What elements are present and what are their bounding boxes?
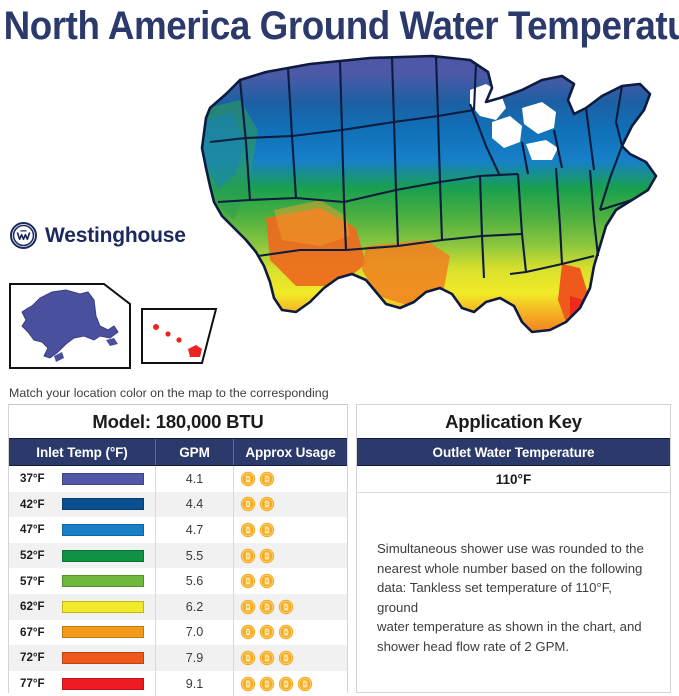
inlet-temp-label: 77°F <box>20 677 54 690</box>
cell-approx-usage <box>234 620 347 646</box>
cell-approx-usage <box>234 466 347 492</box>
shower-token-icon <box>259 548 275 564</box>
cell-inlet-temp: 72°F <box>9 645 156 671</box>
application-key-note: Simultaneous shower use was rounded to t… <box>357 493 670 657</box>
cell-inlet-temp: 62°F <box>9 594 156 620</box>
alaska-inset <box>8 278 132 370</box>
page-title: North America Ground Water Temperature M… <box>0 4 679 48</box>
cell-gpm: 4.7 <box>156 517 234 543</box>
table-row: 77°F9.1 <box>9 671 347 696</box>
inlet-temp-label: 67°F <box>20 626 54 639</box>
table-row: 42°F4.4 <box>9 492 347 518</box>
note-line-5: shower head flow rate of 2 GPM. <box>377 637 649 657</box>
shower-token-icon <box>259 624 275 640</box>
shower-token-icon <box>240 650 256 666</box>
temperature-color-swatch <box>62 473 144 485</box>
table-row: 52°F5.5 <box>9 543 347 569</box>
cell-inlet-temp: 57°F <box>9 568 156 594</box>
shower-token-icon <box>240 624 256 640</box>
shower-token-icon <box>259 573 275 589</box>
column-header-outlet-water-temperature: Outlet Water Temperature <box>357 439 670 465</box>
shower-token-icon <box>259 471 275 487</box>
cell-inlet-temp: 37°F <box>9 466 156 492</box>
panels-region: Model: 180,000 BTU Inlet Temp (°F) GPM A… <box>0 400 679 693</box>
note-line-4: water temperature as shown in the chart,… <box>377 617 649 637</box>
table-row: 37°F4.1 <box>9 466 347 492</box>
cell-inlet-temp: 52°F <box>9 543 156 569</box>
shower-token-icon <box>278 676 294 692</box>
temperature-color-swatch <box>62 550 144 562</box>
cell-inlet-temp: 47°F <box>9 517 156 543</box>
map-region: Westinghouse Match your location color o… <box>0 50 679 395</box>
inlet-temp-label: 72°F <box>20 651 54 664</box>
brand-name: Westinghouse <box>45 224 186 248</box>
shower-token-icon <box>240 522 256 538</box>
cell-inlet-temp: 67°F <box>9 620 156 646</box>
cell-approx-usage <box>234 671 347 696</box>
cell-gpm: 5.6 <box>156 568 234 594</box>
shower-token-icon <box>259 599 275 615</box>
model-capacity-panel: Model: 180,000 BTU Inlet Temp (°F) GPM A… <box>8 404 348 693</box>
note-line-1: Simultaneous shower use was rounded to t… <box>377 539 649 559</box>
temperature-color-swatch <box>62 601 144 613</box>
hawaii-inset <box>140 305 218 367</box>
inlet-temp-label: 57°F <box>20 575 54 588</box>
cell-approx-usage <box>234 645 347 671</box>
table-row: 72°F7.9 <box>9 645 347 671</box>
shower-token-icon <box>297 676 313 692</box>
cell-approx-usage <box>234 568 347 594</box>
table-row: 57°F5.6 <box>9 568 347 594</box>
temperature-color-swatch <box>62 498 144 510</box>
cell-approx-usage <box>234 517 347 543</box>
model-table-header: Inlet Temp (°F) GPM Approx Usage <box>9 438 347 466</box>
cell-gpm: 4.4 <box>156 492 234 518</box>
inlet-temp-label: 47°F <box>20 523 54 536</box>
table-row: 67°F7.0 <box>9 620 347 646</box>
temperature-color-swatch <box>62 652 144 664</box>
cell-inlet-temp: 42°F <box>9 492 156 518</box>
cell-gpm: 7.9 <box>156 645 234 671</box>
note-line-3: data: Tankless set temperature of 110°F,… <box>377 578 649 617</box>
outlet-water-temperature-value: 110°F <box>357 466 670 493</box>
shower-token-icon <box>278 624 294 640</box>
application-key-title: Application Key <box>357 405 670 438</box>
model-table-body: 37°F4.142°F4.447°F4.752°F5.557°F5.662°F6… <box>9 466 347 696</box>
shower-token-icon <box>240 599 256 615</box>
cell-gpm: 7.0 <box>156 620 234 646</box>
shower-token-icon <box>240 548 256 564</box>
column-header-approx-usage: Approx Usage <box>234 439 347 465</box>
shower-token-icon <box>240 676 256 692</box>
shower-token-icon <box>259 650 275 666</box>
model-panel-title: Model: 180,000 BTU <box>9 405 347 438</box>
column-header-gpm: GPM <box>156 439 234 465</box>
brand-logo: Westinghouse <box>10 222 186 249</box>
page-header: North America Ground Water Temperature M… <box>0 0 679 52</box>
inlet-temp-label: 37°F <box>20 472 54 485</box>
cell-approx-usage <box>234 594 347 620</box>
shower-token-icon <box>278 599 294 615</box>
table-row: 47°F4.7 <box>9 517 347 543</box>
shower-token-icon <box>240 573 256 589</box>
cell-approx-usage <box>234 543 347 569</box>
temperature-color-swatch <box>62 524 144 536</box>
cell-gpm: 4.1 <box>156 466 234 492</box>
shower-token-icon <box>278 650 294 666</box>
temperature-color-swatch <box>62 678 144 690</box>
shower-token-icon <box>259 496 275 512</box>
shower-token-icon <box>240 471 256 487</box>
cell-gpm: 6.2 <box>156 594 234 620</box>
shower-token-icon <box>240 496 256 512</box>
shower-token-icon <box>259 522 275 538</box>
temperature-color-swatch <box>62 626 144 638</box>
cell-gpm: 9.1 <box>156 671 234 696</box>
column-header-inlet-temp: Inlet Temp (°F) <box>9 439 156 465</box>
application-key-header: Outlet Water Temperature <box>357 438 670 466</box>
temperature-color-swatch <box>62 575 144 587</box>
cell-gpm: 5.5 <box>156 543 234 569</box>
table-row: 62°F6.2 <box>9 594 347 620</box>
us-ground-water-temperature-map <box>170 50 679 390</box>
cell-inlet-temp: 77°F <box>9 671 156 696</box>
inlet-temp-label: 62°F <box>20 600 54 613</box>
shower-token-icon <box>259 676 275 692</box>
cell-approx-usage <box>234 492 347 518</box>
note-line-2: nearest whole number based on the follow… <box>377 559 649 579</box>
westinghouse-w-circle-icon <box>10 222 37 249</box>
inlet-temp-label: 52°F <box>20 549 54 562</box>
inlet-temp-label: 42°F <box>20 498 54 511</box>
application-key-panel: Application Key Outlet Water Temperature… <box>356 404 671 693</box>
